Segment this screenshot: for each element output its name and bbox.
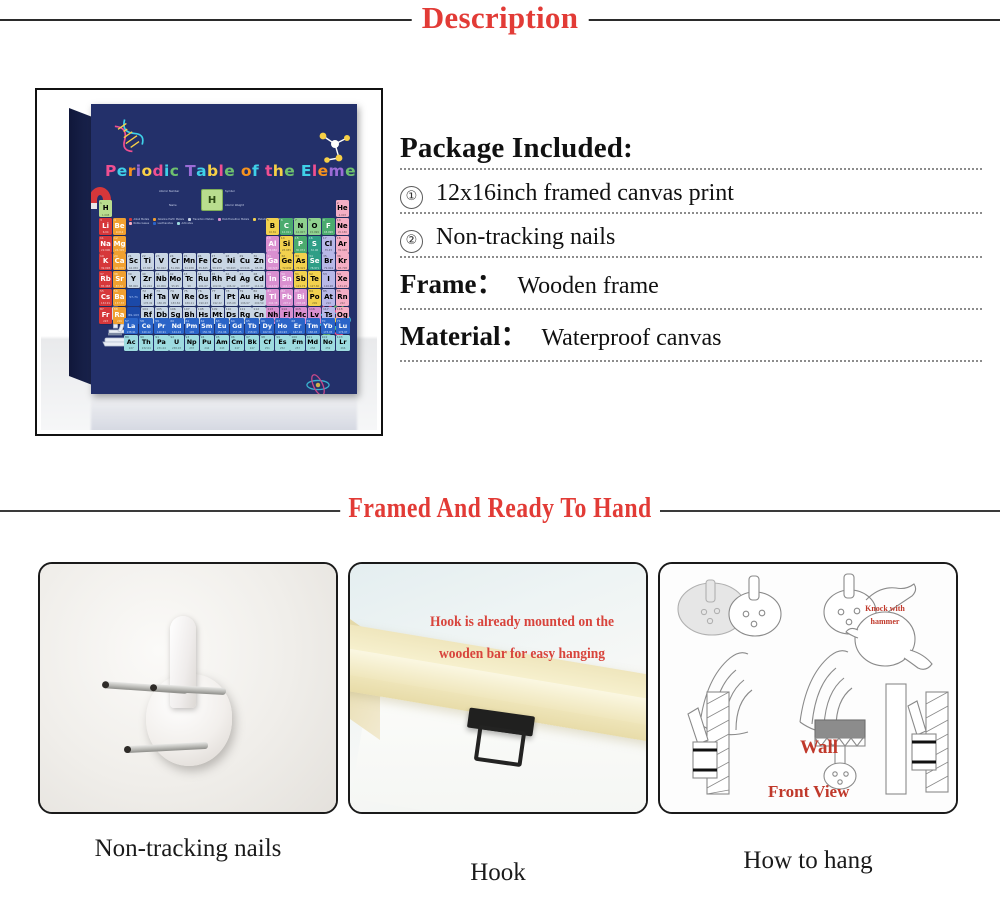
element-symbol: Yb — [321, 322, 335, 330]
element-cell-Cs: 55Cs132.91 — [99, 289, 112, 306]
element-cell-Sb: 51Sb121.76 — [294, 271, 307, 288]
element-weight: 55.845 — [197, 267, 210, 270]
element-cell-Ga: 31Ga69.723 — [266, 253, 279, 270]
title-letter: E — [301, 162, 312, 180]
title-letter: d — [153, 162, 165, 180]
element-weight: 192.22 — [211, 302, 224, 305]
how-to-hang-diagram: Knock with hammer Wall Front View — [660, 564, 956, 812]
key-label-symbol: Symbol — [225, 190, 235, 193]
element-cell-Mn: 25Mn54.938 — [183, 253, 196, 270]
element-symbol: Lu — [336, 322, 350, 330]
product-mockup-stage: Periodic Table of the Elements H Atomic … — [41, 94, 377, 430]
periodic-table-title: Periodic Table of the Elements — [105, 162, 347, 180]
element-weight: 14.007 — [294, 231, 307, 234]
element-symbol: Er — [290, 322, 304, 330]
element-cell-Kr: 36Kr83.798 — [336, 253, 349, 270]
element-cell-Ar: 18Ar39.948 — [336, 236, 349, 253]
element-weight: 173.05 — [321, 331, 335, 334]
element-weight: 209 — [308, 302, 321, 305]
element-symbol: I — [322, 275, 335, 283]
label-front-view: Front View — [768, 782, 849, 802]
spec-row-frame: Frame： Wooden frame — [400, 265, 982, 310]
caption-non-tracking-nails: Non-tracking nails — [68, 828, 308, 870]
element-weight: 88.906 — [127, 285, 140, 288]
element-cell-Na: 11Na22.990 — [99, 236, 112, 253]
element-weight: 227 — [124, 347, 138, 350]
element-symbol: Pd — [224, 275, 237, 283]
panel-how-to-hang: Knock with hammer Wall Front View — [658, 562, 958, 814]
package-item-1: ① 12x16inch framed canvas print — [400, 177, 982, 214]
element-weight: 131.29 — [336, 285, 349, 288]
element-cell-As: 33As74.922 — [294, 253, 307, 270]
item-marker-1: ① — [400, 186, 423, 209]
element-cell-Pt: 78Pt195.08 — [225, 289, 238, 306]
element-weight: 26.982 — [266, 249, 279, 252]
element-weight: 63.546 — [238, 267, 251, 270]
title-letter: t — [265, 162, 273, 180]
element-weight: 167.26 — [290, 331, 304, 334]
element-weight: 18.998 — [322, 231, 335, 234]
element-cell-Es: 99Es252 — [275, 335, 289, 351]
canvas-front-face: Periodic Table of the Elements H Atomic … — [91, 104, 357, 394]
element-symbol: Si — [280, 240, 293, 248]
element-weight: 137.33 — [113, 302, 126, 305]
element-cell-Ru: 44Ru101.07 — [197, 271, 210, 288]
element-cell-C: 6C12.011 — [280, 218, 293, 235]
element-cell-Fr: 87Fr223 — [99, 307, 112, 324]
canvas-3d-wrapper: Periodic Table of the Elements H Atomic … — [69, 104, 357, 392]
title-letter: o — [241, 162, 252, 180]
periodic-row: 3Li6.944Be9.0125B10.816C12.0117N14.0078O… — [99, 218, 349, 235]
element-symbol: Cl — [322, 240, 335, 248]
title-letter: f — [252, 162, 259, 180]
element-cell-La: 57La138.91 — [124, 318, 138, 334]
element-symbol: Zr — [141, 275, 154, 283]
element-cell-Ho: 67Ho164.93 — [275, 318, 289, 334]
element-symbol: Ag — [238, 275, 251, 283]
element-symbol: Te — [308, 275, 321, 283]
element-symbol: Al — [266, 240, 279, 248]
element-weight: 12.011 — [280, 231, 293, 234]
canvas-reflection — [91, 394, 357, 430]
element-weight: 20.180 — [336, 231, 349, 234]
element-cell-Re: 75Re186.21 — [183, 289, 196, 306]
element-cell-Ba: 56Ba137.33 — [113, 289, 126, 306]
element-symbol: Mg — [113, 240, 126, 248]
element-symbol: Ga — [266, 257, 279, 265]
spec-value-frame: Wooden frame — [517, 267, 658, 305]
title-letter: e — [284, 162, 295, 180]
key-label-atomic-number: Atomic Number — [159, 190, 179, 193]
element-cell-Xe: 54Xe131.29 — [336, 271, 349, 288]
element-cell-Rb: 37Rb85.468 — [99, 271, 112, 288]
package-included-title: Package Included: — [400, 128, 982, 168]
element-cell-Bi: 83Bi208.98 — [294, 289, 307, 306]
element-symbol: Cf — [260, 338, 274, 346]
element-weight: 69.723 — [266, 267, 279, 270]
element-symbol: Cm — [230, 338, 244, 346]
element-cell-Se: 34Se78.971 — [308, 253, 321, 270]
element-cell-Lu: 71Lu174.97 — [336, 318, 350, 334]
element-cell-At: 85At210 — [322, 289, 335, 306]
element-cell-In: 49In114.82 — [266, 271, 279, 288]
element-weight: 106.42 — [224, 285, 237, 288]
element-cell-Zn: 30Zn65.38 — [252, 253, 265, 270]
element-weight: 32.06 — [308, 249, 321, 252]
element-symbol: Gd — [230, 322, 244, 330]
element-weight: 132.91 — [99, 302, 112, 305]
element-weight: 127.60 — [308, 285, 321, 288]
element-weight: 195.08 — [225, 302, 238, 305]
element-symbol: Cu — [238, 257, 251, 265]
element-cell-Pa: 91Pa231.04 — [154, 335, 168, 351]
element-symbol: B — [266, 222, 279, 230]
element-cell-Nb: 41Nb92.906 — [155, 271, 168, 288]
element-symbol: Th — [139, 338, 153, 346]
element-cell-No: 102No259 — [321, 335, 335, 351]
element-symbol: Rh — [211, 275, 224, 283]
element-weight: 158.93 — [245, 331, 259, 334]
title-letter: b — [207, 162, 219, 180]
element-cell-Au: 79Au196.97 — [239, 289, 252, 306]
element-weight: 121.76 — [294, 285, 307, 288]
element-weight: 58.933 — [211, 267, 224, 270]
element-symbol: Ge — [280, 257, 293, 265]
periodic-table-fblock: 57La138.9158Ce140.1259Pr140.9160Nd144.24… — [124, 318, 350, 352]
element-cell-F: 9F18.998 — [322, 218, 335, 235]
element-symbol: N — [294, 222, 307, 230]
element-symbol: He — [336, 204, 349, 212]
element-cell-Bk: 97Bk247 — [245, 335, 259, 351]
item-text-2: Non-tracking nails — [436, 221, 615, 253]
element-weight: 247 — [230, 347, 244, 350]
title-letter: m — [329, 162, 346, 180]
element-cell-Md: 101Md258 — [306, 335, 320, 351]
element-weight: 243 — [215, 347, 229, 350]
element-weight: 28.085 — [280, 249, 293, 252]
element-weight: 223 — [99, 320, 112, 323]
element-weight: 54.938 — [183, 267, 196, 270]
element-symbol: Po — [308, 293, 321, 301]
element-weight: 74.922 — [294, 267, 307, 270]
element-weight: 168.93 — [306, 331, 320, 334]
element-symbol: Ca — [113, 257, 126, 265]
element-weight: 47.867 — [141, 267, 154, 270]
element-cell-Si: 14Si28.085 — [280, 236, 293, 253]
element-symbol: As — [294, 257, 307, 265]
title-letter: h — [273, 162, 284, 180]
grid-spacer — [127, 236, 265, 253]
element-weight: 9.012 — [113, 231, 126, 234]
element-symbol: Kr — [336, 257, 349, 265]
element-symbol: U — [169, 338, 183, 346]
element-weight: 247 — [245, 347, 259, 350]
element-cell-B: 5B10.81 — [266, 218, 279, 235]
element-symbol: Es — [275, 338, 289, 346]
actinide-row: 89Ac22790Th232.0491Pa231.0492U238.0393Np… — [124, 335, 350, 351]
element-cell-Sr: 38Sr87.62 — [113, 271, 126, 288]
element-weight: 24.305 — [113, 249, 126, 252]
element-weight: 58.693 — [224, 267, 237, 270]
element-weight: 150.36 — [200, 331, 214, 334]
element-weight: 200.59 — [252, 302, 265, 305]
element-cell-Li: 3Li6.94 — [99, 218, 112, 235]
element-symbol: Re — [183, 293, 196, 301]
element-cell-Gd: 64Gd157.25 — [230, 318, 244, 334]
element-weight: 35.45 — [322, 249, 335, 252]
element-symbol: Ne — [336, 222, 349, 230]
periodic-row: 19K39.09820Ca40.07821Sc44.95622Ti47.8672… — [99, 253, 349, 270]
element-symbol: Br — [322, 257, 335, 265]
element-symbol: Bi — [294, 293, 307, 301]
element-cell-V: 23V50.942 — [155, 253, 168, 270]
element-cell-Co: 27Co58.933 — [211, 253, 224, 270]
element-weight: 95.95 — [169, 285, 182, 288]
element-cell-Dy: 66Dy162.50 — [260, 318, 274, 334]
element-symbol: W — [169, 293, 182, 301]
element-symbol: Np — [185, 338, 199, 346]
product-image-frame: Periodic Table of the Elements H Atomic … — [35, 88, 383, 436]
package-item-2: ② Non-tracking nails — [400, 221, 982, 258]
element-symbol: Be — [113, 222, 126, 230]
element-weight: 232.04 — [139, 347, 153, 350]
element-cell-N: 7N14.007 — [294, 218, 307, 235]
nails-photo — [40, 564, 336, 812]
element-symbol: Tm — [306, 322, 320, 330]
element-weight: 190.23 — [197, 302, 210, 305]
element-cell-Pm: 61Pm145 — [185, 318, 199, 334]
element-weight: 208.98 — [294, 302, 307, 305]
element-weight: 257 — [290, 347, 304, 350]
element-symbol: Na — [99, 240, 112, 248]
title-letter: e — [117, 162, 128, 180]
title-letter: e — [345, 162, 356, 180]
title-letter: P — [105, 162, 117, 180]
element-weight: 237 — [185, 347, 199, 350]
grid-spacer — [113, 200, 335, 217]
element-symbol: Tb — [245, 322, 259, 330]
element-cell-Mg: 12Mg24.305 — [113, 236, 126, 253]
element-weight: 65.38 — [252, 267, 265, 270]
label-knock-with-hammer: Knock with hammer — [856, 602, 914, 628]
element-cell-K: 19K39.098 — [99, 253, 112, 270]
element-symbol: Se — [308, 257, 321, 265]
element-cell-Fe: 26Fe55.845 — [197, 253, 210, 270]
element-symbol: Ru — [197, 275, 210, 283]
element-weight: 259 — [321, 347, 335, 350]
element-weight: 180.95 — [155, 302, 168, 305]
element-weight: 207.2 — [280, 302, 293, 305]
element-symbol: Ir — [211, 293, 224, 301]
periodic-table-grid: 1H1.0082He4.0033Li6.944Be9.0125B10.816C1… — [99, 200, 349, 325]
element-cell-Ca: 20Ca40.078 — [113, 253, 126, 270]
element-cell-Zr: 40Zr91.224 — [141, 271, 154, 288]
element-symbol: Ar — [336, 240, 349, 248]
element-weight: 101.07 — [197, 285, 210, 288]
element-symbol: Dy — [260, 322, 274, 330]
element-weight: 258 — [306, 347, 320, 350]
spec-row-material: Material： Waterproof canvas — [400, 317, 982, 362]
element-cell-Ta: 73Ta180.95 — [155, 289, 168, 306]
element-symbol: Ba — [113, 293, 126, 301]
element-weight: 118.71 — [280, 285, 293, 288]
element-cell-Ce: 58Ce140.12 — [139, 318, 153, 334]
element-symbol: Ti — [141, 257, 154, 265]
element-weight: 39.098 — [99, 267, 112, 270]
element-weight: 251 — [260, 347, 274, 350]
element-cell-Cm: 96Cm247 — [230, 335, 244, 351]
element-cell-Sm: 62Sm150.36 — [200, 318, 214, 334]
element-symbol: O — [308, 222, 321, 230]
element-symbol: Sm — [200, 322, 214, 330]
element-symbol: Nd — [169, 322, 183, 330]
periodic-row: 11Na22.99012Mg24.30513Al26.98214Si28.085… — [99, 236, 349, 253]
element-symbol: Pt — [225, 293, 238, 301]
element-cell-Po: 84Po209 — [308, 289, 321, 306]
title-letter: c — [170, 162, 180, 180]
element-symbol: Sb — [294, 275, 307, 283]
title-letter: e — [318, 162, 329, 180]
element-weight: 4.003 — [336, 214, 349, 217]
element-cell-Am: 95Am243 — [215, 335, 229, 351]
section-header-description: Description — [0, 0, 1000, 46]
element-cell-Ac: 89Ac227 — [124, 335, 138, 351]
element-weight: 151.96 — [215, 331, 229, 334]
element-symbol: Eu — [215, 322, 229, 330]
element-symbol: Ni — [224, 257, 237, 265]
spec-key-material: Material： — [400, 317, 527, 355]
element-symbol: F — [322, 222, 335, 230]
element-weight: 144.24 — [169, 331, 183, 334]
element-weight: 44.956 — [127, 267, 140, 270]
element-cell-Cr: 24Cr51.996 — [169, 253, 182, 270]
element-weight: 39.948 — [336, 249, 349, 252]
element-weight: 1.008 — [99, 214, 112, 217]
element-symbol: Sr — [113, 275, 126, 283]
element-cell-Br: 35Br79.904 — [322, 253, 335, 270]
series-range-tag: 57-71 — [127, 289, 141, 306]
element-cell-Mo: 42Mo95.95 — [169, 271, 182, 288]
element-cell-Nd: 60Nd144.24 — [169, 318, 183, 334]
element-cell-Ti: 22Ti47.867 — [141, 253, 154, 270]
hook-overlay-line-1: Hook is already mounted on the — [414, 606, 630, 638]
element-weight: 10.81 — [266, 231, 279, 234]
package-included-row: Package Included: — [400, 128, 982, 170]
hook-photo: Hook is already mounted on the wooden ba… — [350, 564, 646, 812]
element-weight: 266 — [336, 347, 350, 350]
element-symbol: Bk — [245, 338, 259, 346]
element-symbol: Fm — [290, 338, 304, 346]
element-cell-Os: 76Os190.23 — [197, 289, 210, 306]
element-symbol: Cr — [169, 257, 182, 265]
spec-value-material: Waterproof canvas — [541, 319, 721, 357]
element-symbol: Tl — [266, 293, 279, 301]
element-cell-Ir: 77Ir192.22 — [211, 289, 224, 306]
element-symbol: Ta — [155, 293, 168, 301]
element-symbol: La — [124, 322, 138, 330]
element-symbol: Mn — [183, 257, 196, 265]
spec-key-frame: Frame： — [400, 265, 503, 303]
element-symbol: Hg — [252, 293, 265, 301]
element-symbol: Fe — [197, 257, 210, 265]
element-symbol: Ac — [124, 338, 138, 346]
element-cell-Lr: 103Lr266 — [336, 335, 350, 351]
element-symbol: Cs — [99, 293, 112, 301]
nail-hook-body — [136, 616, 240, 766]
element-weight: 92.906 — [155, 285, 168, 288]
framed-title: Framed And Ready To Hand — [340, 488, 660, 528]
element-symbol: Co — [211, 257, 224, 265]
element-cell-W: 74W183.84 — [169, 289, 182, 306]
title-letter: o — [141, 162, 152, 180]
element-weight: 98 — [183, 285, 196, 288]
element-weight: 15.999 — [308, 231, 321, 234]
element-symbol: C — [280, 222, 293, 230]
element-cell-Sn: 50Sn118.71 — [280, 271, 293, 288]
element-weight: 252 — [275, 347, 289, 350]
element-weight: 51.996 — [169, 267, 182, 270]
element-weight: 78.971 — [308, 267, 321, 270]
hook-stem — [170, 616, 196, 708]
element-symbol: Pb — [280, 293, 293, 301]
periodic-row: 37Rb85.46838Sr87.6239Y88.90640Zr91.22441… — [99, 271, 349, 288]
element-weight: 204.38 — [266, 302, 279, 305]
panel-hook: Hook is already mounted on the wooden ba… — [348, 562, 648, 814]
panel-non-tracking-nails — [38, 562, 338, 814]
element-symbol: Xe — [336, 275, 349, 283]
element-weight: 79.904 — [322, 267, 335, 270]
hook-overlay-line-2: wooden bar for easy hanging — [414, 638, 630, 670]
element-symbol: Mo — [169, 275, 182, 283]
element-symbol: K — [99, 257, 112, 265]
element-symbol: Rn — [336, 293, 349, 301]
element-symbol: No — [321, 338, 335, 346]
element-cell-H: 1H1.008 — [99, 200, 112, 217]
element-cell-Cd: 48Cd112.41 — [252, 271, 265, 288]
element-weight: 114.82 — [266, 285, 279, 288]
element-symbol: Tc — [183, 275, 196, 283]
element-symbol: Pm — [185, 322, 199, 330]
element-cell-Tb: 65Tb158.93 — [245, 318, 259, 334]
element-symbol: Pu — [200, 338, 214, 346]
element-cell-Hg: 80Hg200.59 — [252, 289, 265, 306]
element-cell-Cl: 17Cl35.45 — [322, 236, 335, 253]
title-letter: T — [185, 162, 196, 180]
caption-hook: Hook — [348, 852, 648, 894]
element-weight: 22.990 — [99, 249, 112, 252]
element-weight: 222 — [336, 302, 349, 305]
item-marker-2: ② — [400, 230, 423, 253]
element-cell-Al: 13Al26.982 — [266, 236, 279, 253]
element-symbol: Pa — [154, 338, 168, 346]
element-cell-Be: 4Be9.012 — [113, 218, 126, 235]
grid-spacer — [127, 218, 265, 235]
title-letter: a — [196, 162, 207, 180]
element-weight: 157.25 — [230, 331, 244, 334]
element-symbol: Am — [215, 338, 229, 346]
element-cell-Cu: 29Cu63.546 — [238, 253, 251, 270]
element-cell-Fm: 100Fm257 — [290, 335, 304, 351]
element-cell-Y: 39Y88.906 — [127, 271, 140, 288]
element-cell-Ni: 28Ni58.693 — [224, 253, 237, 270]
element-symbol: Zn — [252, 257, 265, 265]
element-symbol: P — [294, 240, 307, 248]
lanthanide-row: 57La138.9158Ce140.1259Pr140.9160Nd144.24… — [124, 318, 350, 334]
element-cell-Np: 93Np237 — [185, 335, 199, 351]
element-weight: 186.21 — [183, 302, 196, 305]
element-weight: 138.91 — [124, 331, 138, 334]
element-cell-Sc: 21Sc44.956 — [127, 253, 140, 270]
